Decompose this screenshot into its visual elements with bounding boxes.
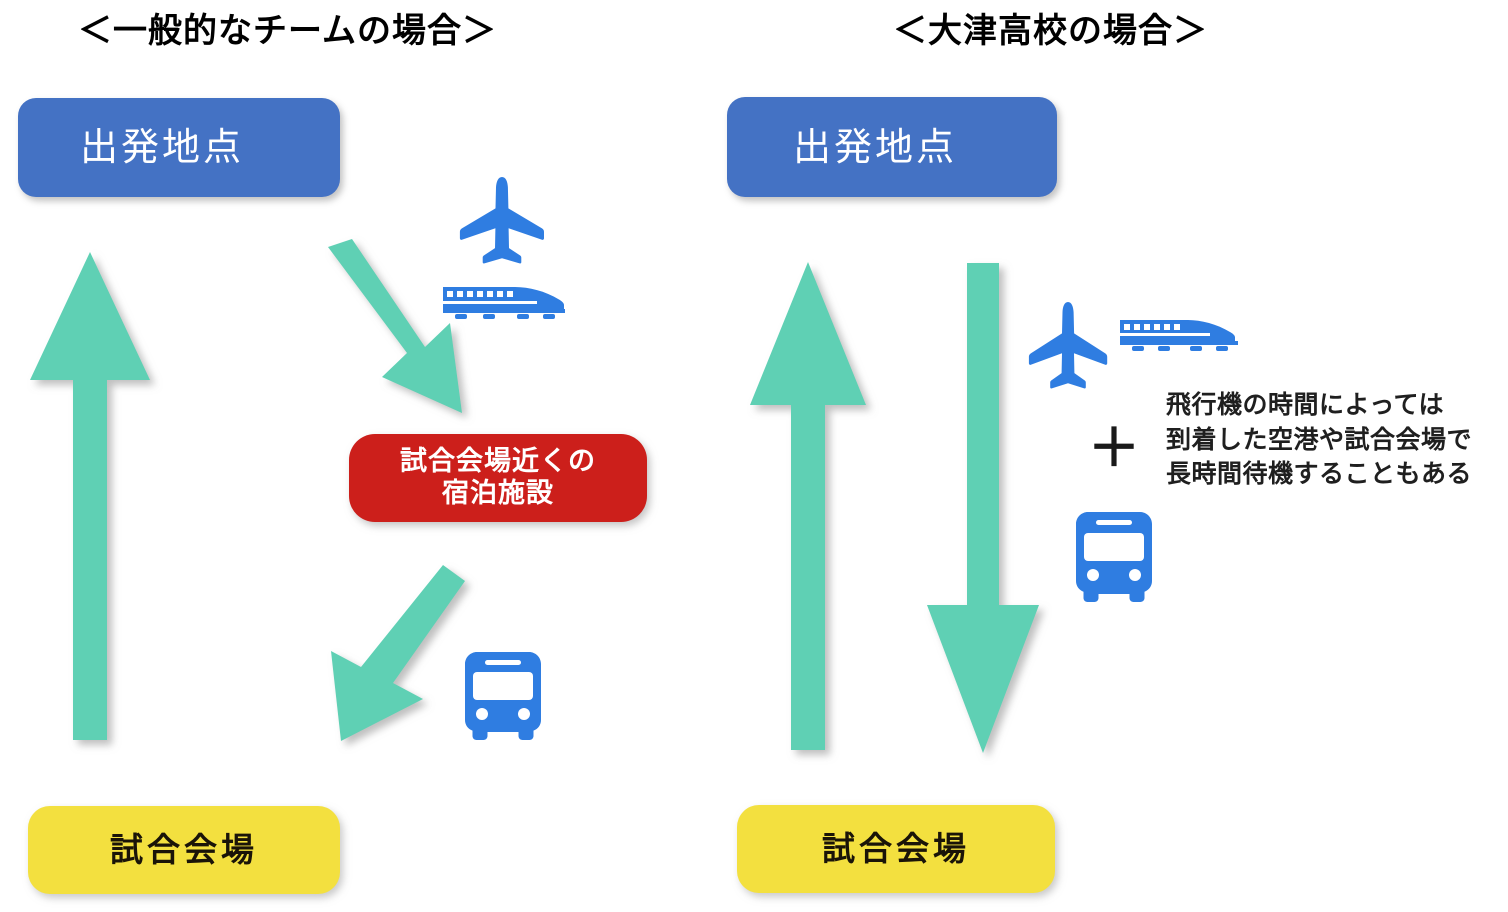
- nearby-accommodation-label: 試合会場近くの 宿泊施設: [400, 446, 596, 510]
- nearby-accommodation-line1: 試合会場近くの: [400, 446, 596, 478]
- bus-icon: [463, 648, 543, 740]
- right-match-venue-box: 試合会場: [737, 805, 1055, 893]
- right-start-point-label: 出発地点: [793, 125, 991, 170]
- left-outbound-diagonal-arrow: [310, 235, 510, 435]
- diagram-canvas: ＜一般的なチームの場合＞ ＜大津高校の場合＞ 出発地点: [0, 0, 1508, 912]
- left-transfer-diagonal-arrow: [325, 555, 485, 755]
- bus-icon: [1073, 508, 1155, 602]
- right-panel-title: ＜大津高校の場合＞: [893, 14, 1208, 48]
- right-match-venue-label: 試合会場: [822, 830, 970, 869]
- left-match-venue-box: 試合会場: [28, 806, 340, 894]
- left-start-point-box: 出発地点: [18, 98, 340, 197]
- left-match-venue-label: 試合会場: [110, 831, 258, 870]
- waiting-time-note: 飛行機の時間によっては 到着した空港や試合会場で 長時間待機することもある: [1166, 388, 1506, 492]
- right-return-up-arrow: [730, 250, 910, 760]
- nearby-accommodation-box: 試合会場近くの 宿泊施設: [349, 434, 647, 522]
- left-start-point-label: 出発地点: [80, 125, 278, 170]
- right-start-point-box: 出発地点: [727, 97, 1057, 197]
- shinkansen-icon: [1118, 316, 1238, 356]
- nearby-accommodation-line2: 宿泊施設: [400, 478, 596, 510]
- plus-sign: ＋: [1088, 424, 1134, 476]
- left-panel-title: ＜一般的なチームの場合＞: [78, 14, 497, 48]
- airplane-icon: [1028, 300, 1108, 392]
- left-return-up-arrow: [10, 240, 190, 750]
